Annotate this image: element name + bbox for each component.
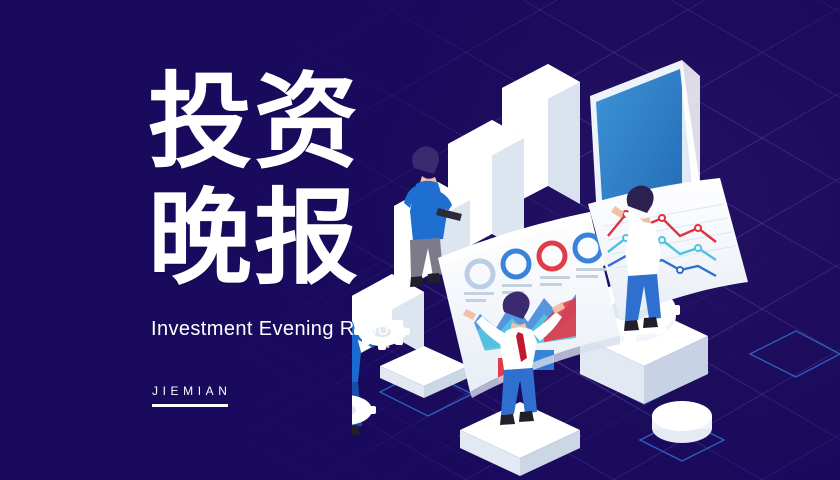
title-line-1: 投资 [148, 66, 402, 178]
cylinder-pedestal [652, 401, 712, 443]
investment-evening-report-banner: 投资 晚报 Investment Evening Report JIEMIAN [0, 0, 840, 480]
subtitle: Investment Evening Report [151, 318, 402, 341]
brand-underline [152, 404, 228, 407]
brand-mark: JIEMIAN [152, 384, 232, 407]
title-line-2: 晚报 [148, 182, 402, 294]
title-block: 投资 晚报 Investment Evening Report [148, 66, 402, 341]
brand-name: JIEMIAN [152, 384, 232, 398]
isometric-illustration [352, 36, 840, 480]
small-white-box [380, 346, 468, 398]
